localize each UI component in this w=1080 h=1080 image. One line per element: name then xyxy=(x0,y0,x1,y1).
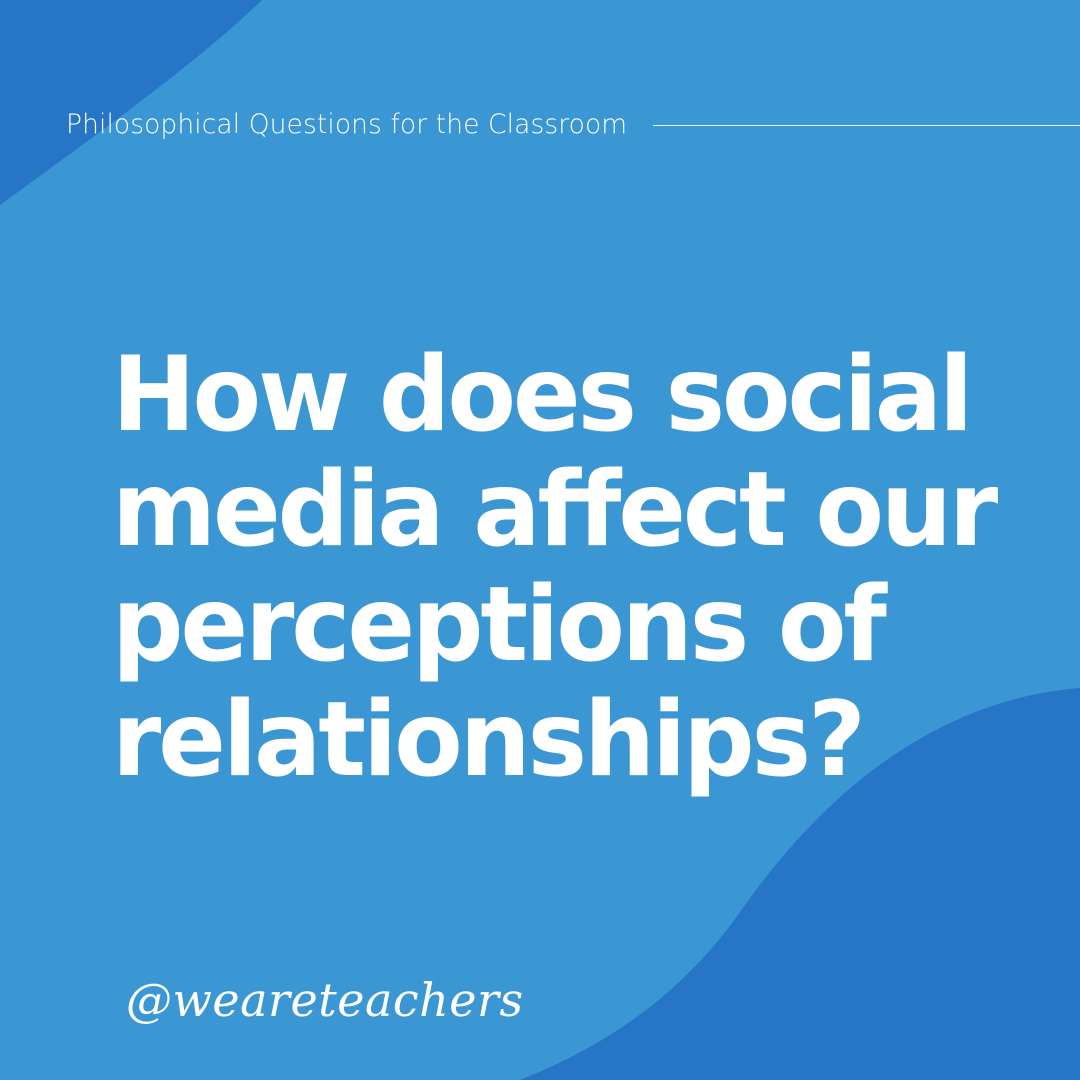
headline: How does social media affect our percept… xyxy=(112,338,1012,798)
headline-line-1: How does social xyxy=(112,338,985,453)
headline-line-2: media affect our xyxy=(112,453,985,568)
account-handle: @weareteachers xyxy=(126,975,524,1026)
headline-line-3: perceptions of xyxy=(112,568,985,683)
headline-line-4: relationships? xyxy=(112,683,985,798)
header: Philosophical Questions for the Classroo… xyxy=(0,97,1080,153)
header-rule-divider xyxy=(653,125,1080,126)
social-post-card: Philosophical Questions for the Classroo… xyxy=(0,0,1080,1080)
header-title: Philosophical Questions for the Classroo… xyxy=(66,112,627,139)
